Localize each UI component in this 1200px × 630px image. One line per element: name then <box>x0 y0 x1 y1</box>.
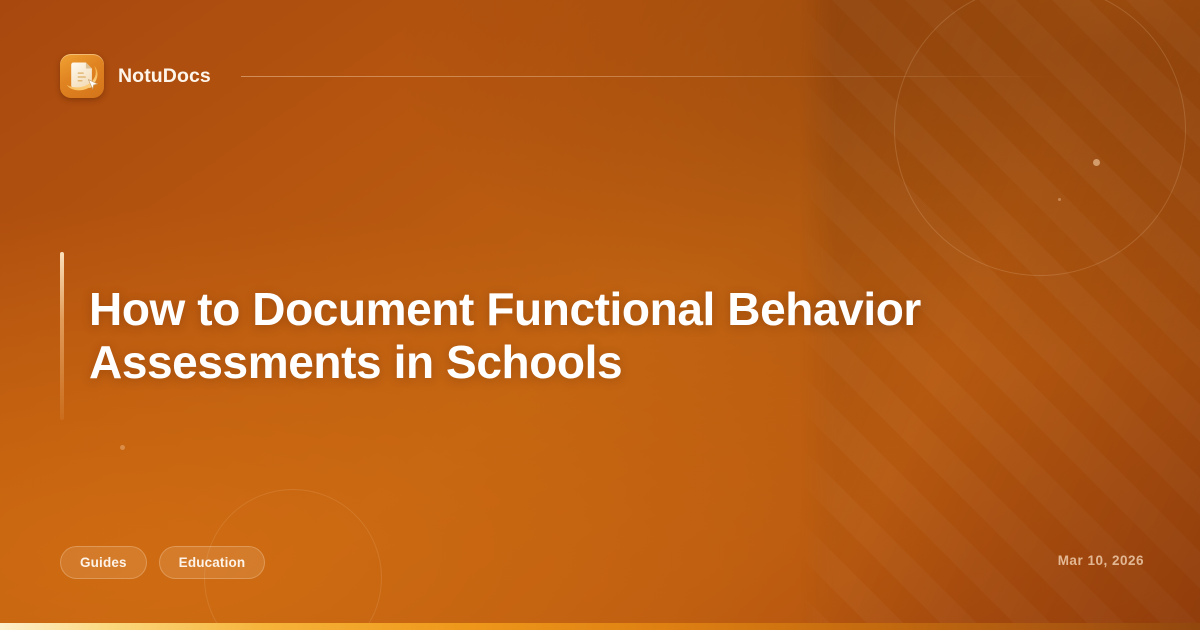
tag-list: Guides Education <box>60 546 265 579</box>
brand-name: NotuDocs <box>118 65 211 88</box>
header-divider-rule <box>241 76 1060 77</box>
tag-education[interactable]: Education <box>159 546 266 579</box>
title-block: How to Document Functional Behavior Asse… <box>60 252 940 420</box>
page-title: How to Document Functional Behavior Asse… <box>89 283 940 390</box>
decorative-dot-faint <box>120 445 125 450</box>
decorative-dot-large <box>1093 159 1100 166</box>
tag-guides[interactable]: Guides <box>60 546 147 579</box>
social-share-card: NotuDocs How to Document Functional Beha… <box>0 0 1200 630</box>
publish-date: Mar 10, 2026 <box>1058 553 1144 568</box>
title-accent-bar <box>60 252 64 420</box>
card-header: NotuDocs <box>60 54 1060 98</box>
bottom-accent-bar <box>0 623 1200 630</box>
decorative-dot-small <box>1058 198 1061 201</box>
notudocs-logo-icon[interactable] <box>60 54 104 98</box>
